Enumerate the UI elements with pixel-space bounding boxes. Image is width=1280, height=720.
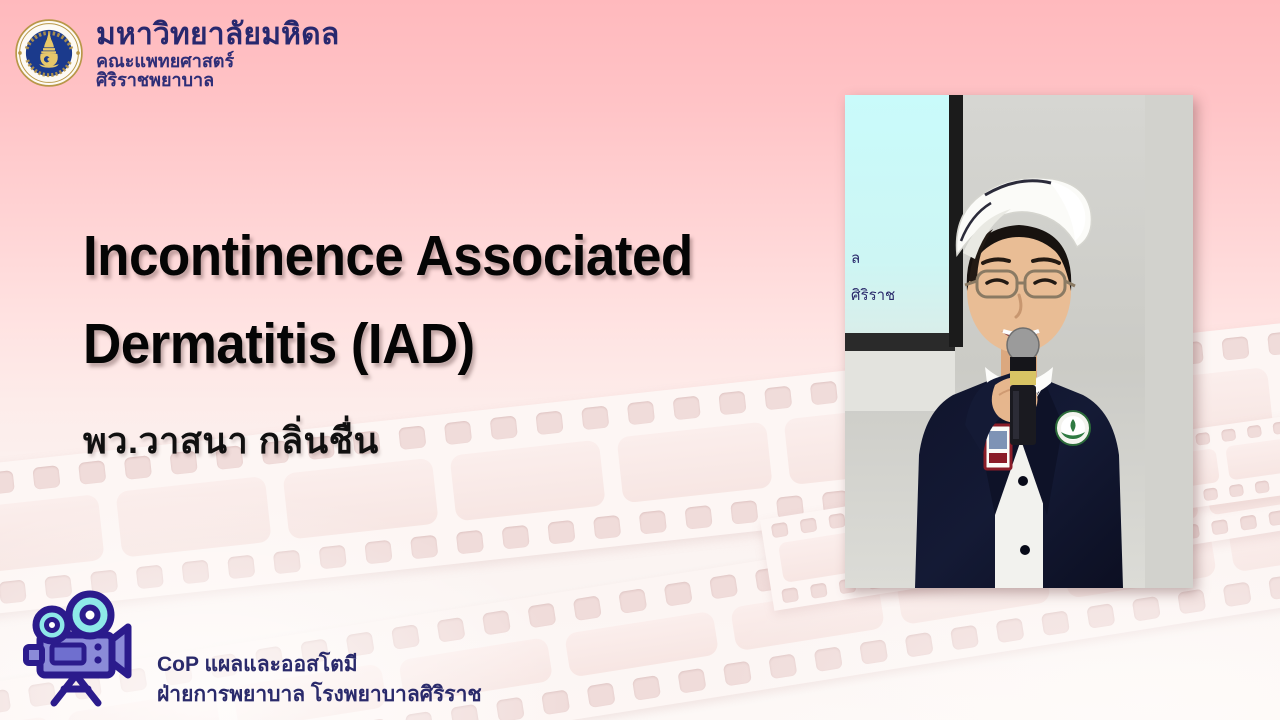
svg-text:ศิริราช: ศิริราช <box>851 287 895 304</box>
slide-title: Incontinence Associated Dermatitis (IAD) <box>83 212 771 389</box>
movie-camera-icon <box>14 583 138 707</box>
brand-line-faculty: คณะแพทยศาสตร์ <box>96 52 339 70</box>
speaker-photo: ล ศิริราช <box>845 95 1193 588</box>
slide-title-line-1: Incontinence Associated <box>83 212 771 300</box>
footer-credit: CoP แผลและออสโตมี ฝ่ายการพยาบาล โรงพยาบา… <box>157 650 482 710</box>
footer-credit-line-1: CoP แผลและออสโตมี <box>157 650 482 680</box>
footer-credit-line-2: ฝ่ายการพยาบาล โรงพยาบาลศิริราช <box>157 680 482 710</box>
presentation-slide: มหาวิทยาลัยมหิดล คณะแพทยศาสตร์ ศิริราชพย… <box>0 0 1280 720</box>
brand-line-hospital: ศิริราชพยาบาล <box>96 71 339 89</box>
brand-text: มหาวิทยาลัยมหิดล คณะแพทยศาสตร์ ศิริราชพย… <box>96 18 339 89</box>
movie-camera-glyph <box>14 583 138 707</box>
brand-line-university: มหาวิทยาลัยมหิดล <box>96 20 339 51</box>
svg-text:ล: ล <box>851 250 860 267</box>
mahidol-university-seal-icon <box>14 18 84 88</box>
slide-title-line-2: Dermatitis (IAD) <box>83 300 771 388</box>
brand-header: มหาวิทยาลัยมหิดล คณะแพทยศาสตร์ ศิริราชพย… <box>14 18 339 89</box>
speaker-photo-image: ล ศิริราช <box>845 95 1193 588</box>
speaker-name: พว.วาสนา กลิ่นชื่น <box>83 412 379 469</box>
